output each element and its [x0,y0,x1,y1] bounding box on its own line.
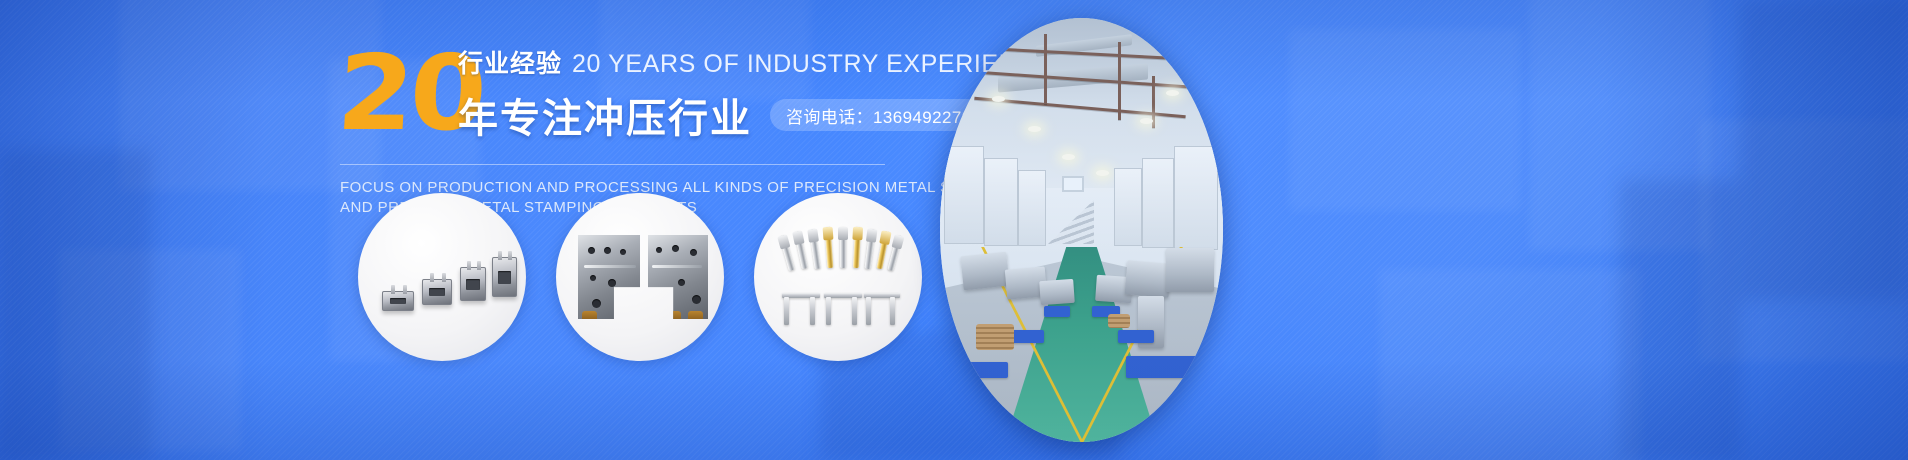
factory-scene [940,18,1223,442]
focus-stamping-cn: 年专注冲压行业 [458,86,752,144]
usb-connectors-photo[interactable] [358,193,526,361]
product-circle-group [358,193,922,361]
stamping-die-stage [556,193,724,361]
terminal-pins-stage [754,193,922,361]
stamping-die-photo[interactable] [556,193,724,361]
factory-workshop-photo[interactable] [940,18,1223,442]
photo-color-tint [940,18,1223,442]
headline-divider [340,164,885,165]
promo-banner: 20 行业经验 20 YEARS OF INDUSTRY EXPERIENCE … [0,0,1908,460]
terminal-pins-photo[interactable] [754,193,922,361]
usb-connectors-stage [358,193,526,361]
industry-experience-cn: 行业经验 [458,44,562,80]
